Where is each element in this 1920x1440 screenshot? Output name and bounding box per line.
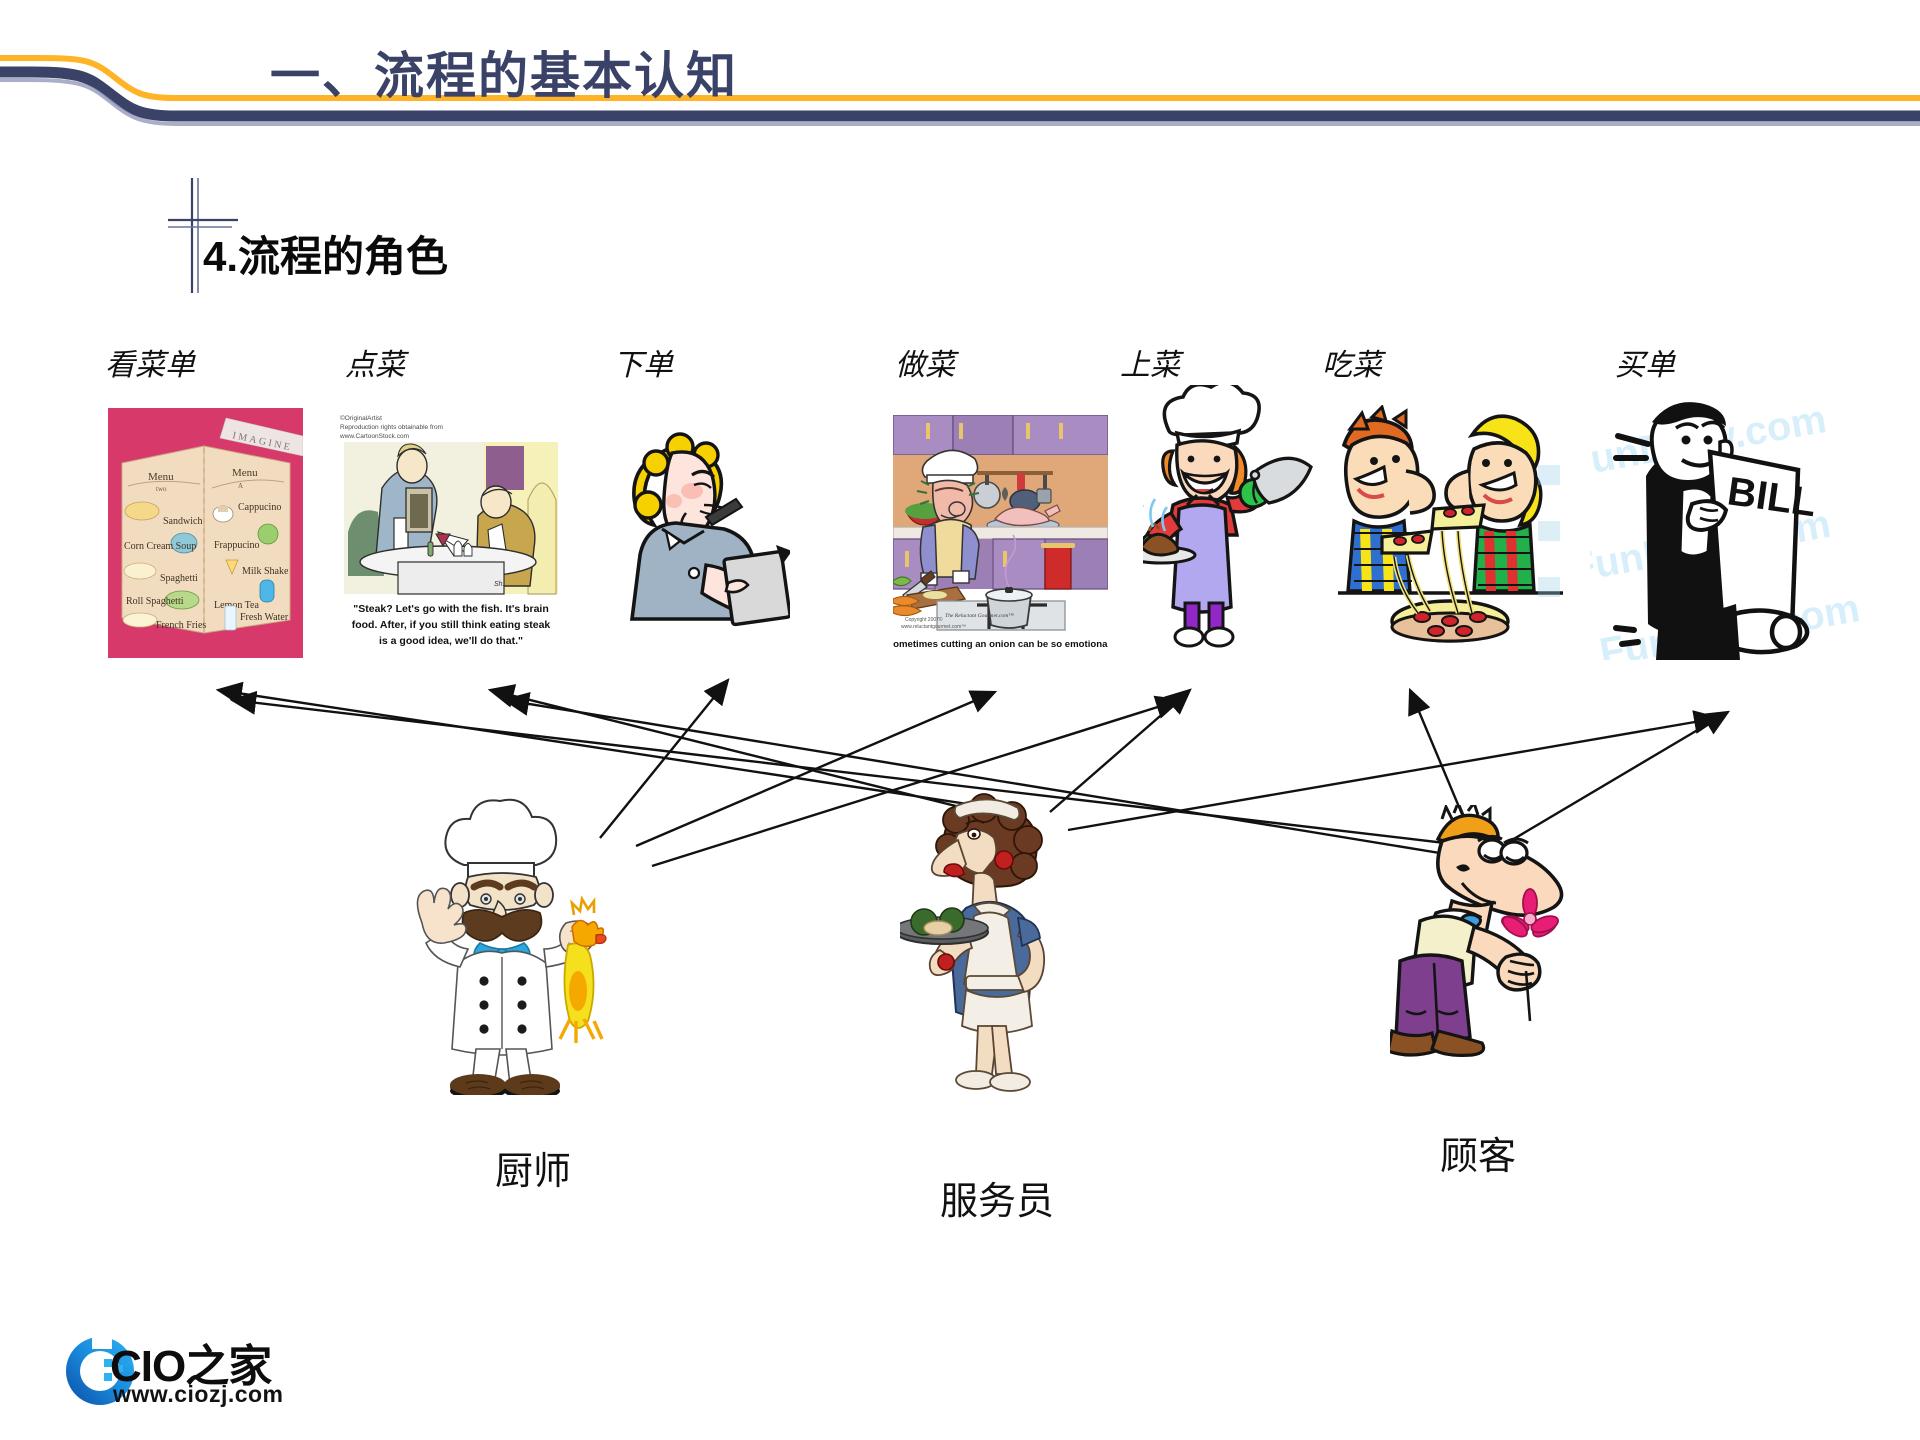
menu-right-heading: Menu [232, 467, 258, 479]
svg-text:two: two [156, 485, 167, 493]
page-title: 一、流程的基本认知 [270, 36, 970, 108]
svg-text:www.reluctantgourmet.com™: www.reluctantgourmet.com™ [901, 624, 966, 630]
svg-text:is a good idea, we'll do that.: is a good idea, we'll do that." [379, 635, 523, 647]
chef-with-chicken-clipart [398, 795, 608, 1095]
role-label-chef: 厨师 [495, 1140, 571, 1195]
svg-text:A: A [238, 482, 243, 490]
svg-text:Lemon Tea: Lemon Tea [214, 600, 259, 611]
svg-text:Reproduction rights obtainable: Reproduction rights obtainable from [340, 424, 443, 431]
svg-text:Sh.: Sh. [494, 581, 505, 588]
svg-text:Spaghetti: Spaghetti [160, 573, 198, 584]
step-label-7: 买单 [1615, 340, 1675, 384]
waitress-with-tray-clipart [900, 790, 1100, 1120]
step-label-1: 看菜单 [105, 340, 195, 384]
menu-booklet-image: IMAGINE Menu two Sandwich Corn Cream Sou… [108, 408, 303, 658]
svg-text:The Reluctant Gourmet.com™: The Reluctant Gourmet.com™ [945, 613, 1014, 619]
customer-with-flower-clipart [1390, 805, 1630, 1095]
step-label-2: 点菜 [345, 340, 405, 384]
svg-text:www.CartoonStock.com: www.CartoonStock.com [339, 433, 409, 440]
section-title: 4.流程的角色 [203, 223, 448, 284]
svg-text:Sometimes cutting an onion can: Sometimes cutting an onion can be so emo… [893, 639, 1108, 650]
chef-cutting-onion-kitchen-cartoon: Copyright 2007© www.reluctantgourmet.com… [893, 415, 1108, 660]
svg-text:French Fries: French Fries [156, 620, 206, 631]
svg-text:©OriginalArtist: ©OriginalArtist [340, 414, 382, 422]
step-label-5: 上菜 [1120, 340, 1180, 384]
slide-canvas: 一、流程的基本认知 4.流程的角色 看菜单 IMAGINE Menu two [0, 0, 1920, 1440]
server-carrying-turkey-platter-clipart [1143, 385, 1313, 660]
svg-text:Sandwich: Sandwich [163, 516, 202, 527]
role-label-waitress: 服务员 [940, 1170, 1054, 1225]
svg-text:Fresh Water: Fresh Water [240, 612, 289, 623]
step-label-4: 做菜 [895, 340, 955, 384]
waiter-holding-bill-scroll-clipart: FunDraw.com FunDraw.com FunDraw.com [1590, 392, 1870, 660]
svg-text:Corn Cream Soup: Corn Cream Soup [124, 541, 196, 552]
role-label-customer: 顾客 [1440, 1125, 1516, 1180]
svg-text:Cappucino: Cappucino [238, 502, 281, 513]
arrow-chef-to-submit [600, 680, 728, 838]
step-label-3: 下单 [613, 340, 673, 384]
waitress-writing-notepad-clipart [600, 405, 790, 655]
logo-url: www.ciozj.com [113, 1381, 284, 1408]
svg-text:food. After, if you still thin: food. After, if you still think eating s… [352, 619, 551, 631]
two-people-eating-pizza-clipart [1338, 405, 1563, 655]
svg-text:Copyright 2007©: Copyright 2007© [905, 616, 943, 623]
svg-text:"Steak? Let's go with the fish: "Steak? Let's go with the fish. It's bra… [353, 603, 549, 615]
svg-text:Frappucino: Frappucino [214, 540, 260, 551]
svg-text:Milk Shake: Milk Shake [242, 566, 289, 577]
svg-text:Roll Spaghetti: Roll Spaghetti [126, 596, 184, 607]
waiter-taking-order-cartoon: ©OriginalArtist Reproduction rights obta… [336, 410, 566, 660]
step-label-6: 吃菜 [1322, 340, 1382, 384]
